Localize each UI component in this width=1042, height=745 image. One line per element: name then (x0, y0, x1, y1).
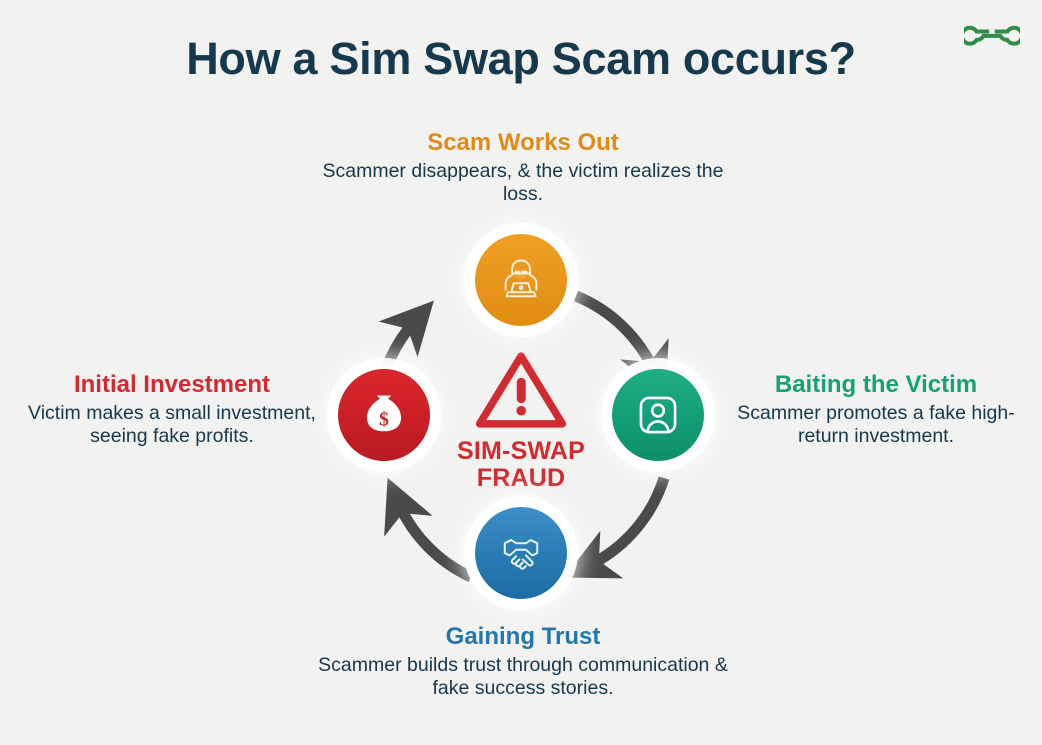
label-initial-investment: Initial Investment Victim makes a small … (18, 372, 326, 449)
label-scam-works-out: Scam Works Out Scammer disappears, & the… (318, 130, 728, 207)
label-desc-right: Scammer promotes a fake high-return inve… (722, 402, 1030, 449)
node-baiting-the-victim[interactable] (612, 369, 704, 461)
money-bag-icon: $ (358, 389, 410, 441)
label-title-bottom: Gaining Trust (300, 624, 746, 651)
centre-line-1: SIM-SWAP (441, 438, 601, 465)
centre-warning: SIM-SWAP FRAUD (441, 348, 601, 491)
label-desc-left: Victim makes a small investment, seeing … (18, 402, 326, 449)
arrow-bottom-to-left (398, 502, 471, 577)
handshake-icon (495, 527, 547, 579)
centre-line-2: FRAUD (441, 465, 601, 492)
label-title-top: Scam Works Out (318, 130, 728, 157)
user-profile-icon (632, 389, 684, 441)
cycle-diagram: SIM-SWAP FRAUD (0, 0, 1042, 745)
label-title-right: Baiting the Victim (722, 372, 1030, 399)
arrow-right-to-bottom (588, 478, 664, 566)
label-title-left: Initial Investment (18, 372, 326, 399)
label-baiting-the-victim: Baiting the Victim Scammer promotes a fa… (722, 372, 1030, 449)
label-desc-bottom: Scammer builds trust through communicati… (300, 654, 746, 701)
centre-label: SIM-SWAP FRAUD (441, 438, 601, 491)
hacker-laptop-icon (495, 254, 547, 306)
label-desc-top: Scammer disappears, & the victim realize… (318, 160, 728, 207)
node-gaining-trust[interactable] (475, 507, 567, 599)
warning-triangle-icon (474, 348, 568, 432)
label-gaining-trust: Gaining Trust Scammer builds trust throu… (300, 624, 746, 701)
node-scam-works-out[interactable] (475, 234, 567, 326)
node-initial-investment[interactable]: $ (338, 369, 430, 461)
svg-text:$: $ (379, 410, 389, 431)
